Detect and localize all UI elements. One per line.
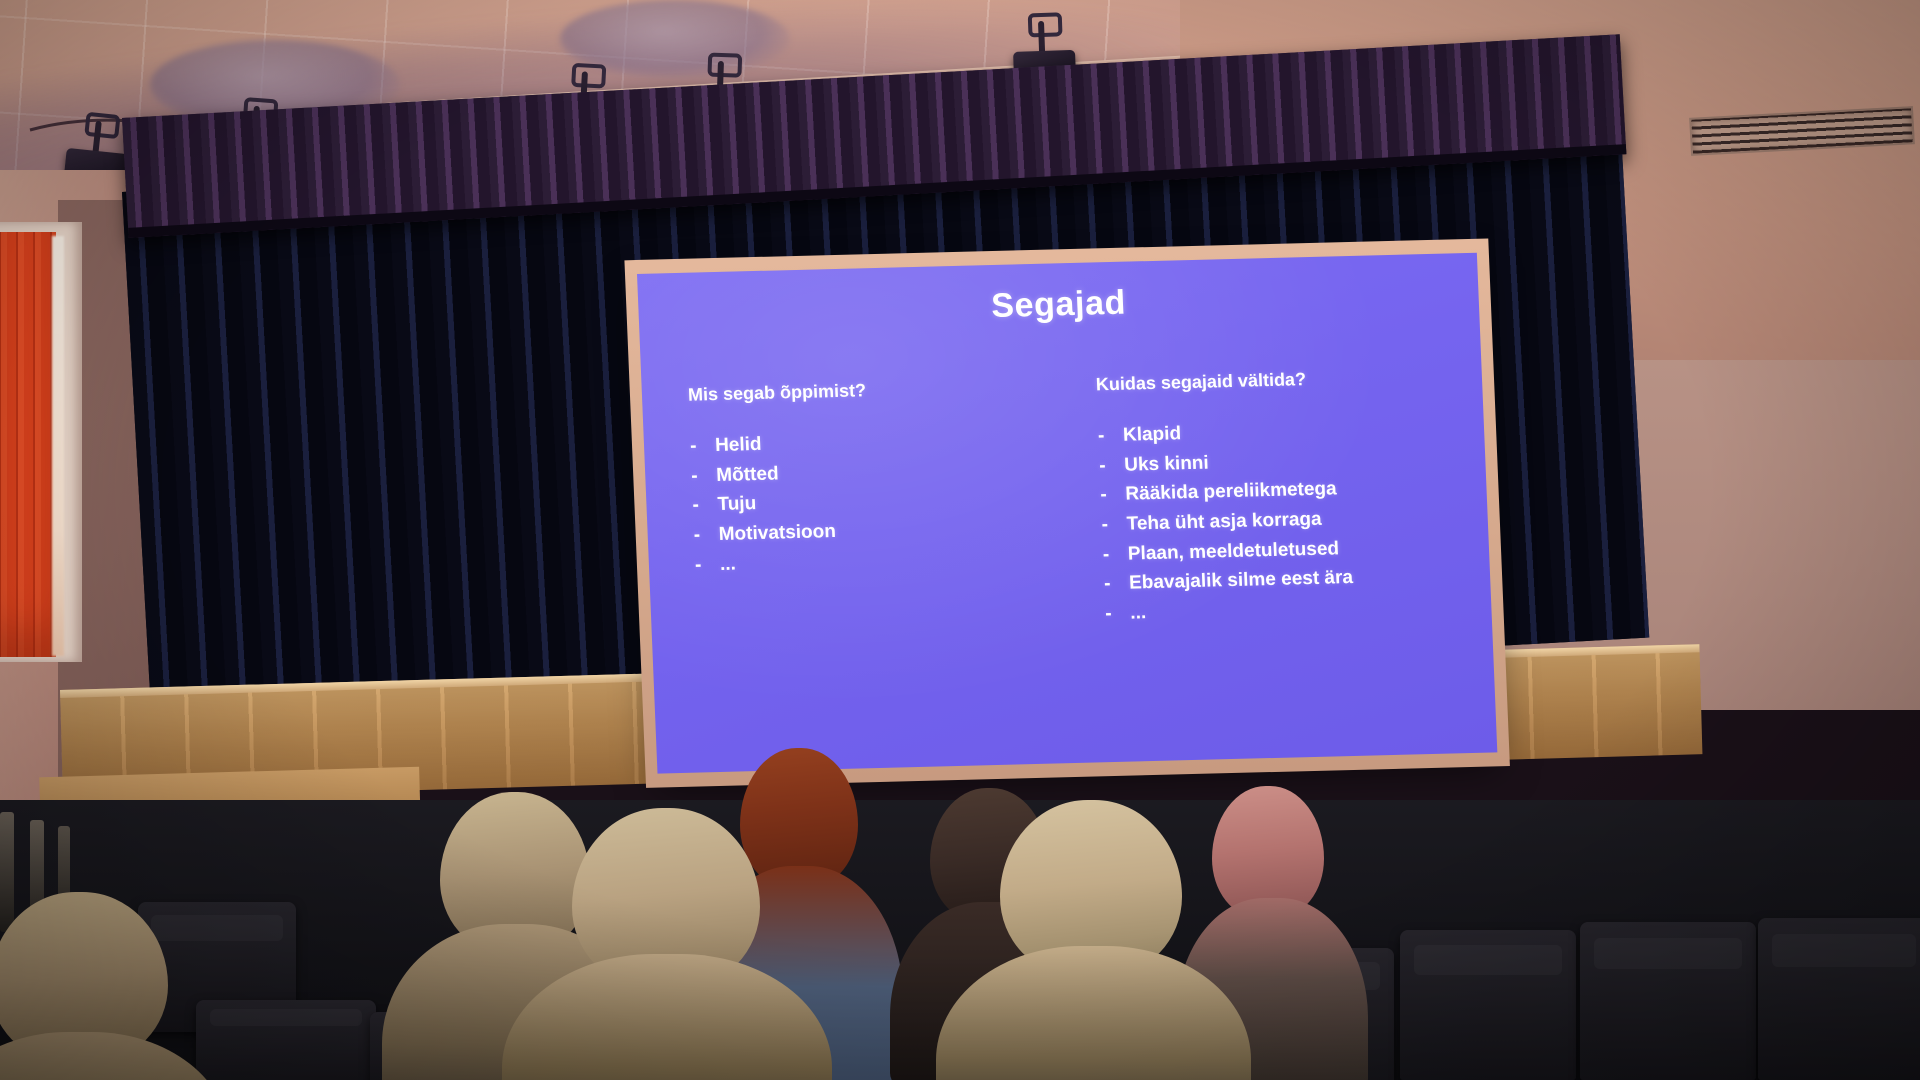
slide-column-left: Mis segab õppimist? - Helid - Mõtted - T — [688, 376, 1050, 639]
seat[interactable] — [1400, 930, 1576, 1080]
bullet-dash: - — [1099, 451, 1111, 481]
slide-columns: Mis segab õppimist? - Helid - Mõtted - T — [688, 366, 1458, 639]
bullet-dash: - — [1104, 569, 1116, 599]
bullet-dash: - — [692, 491, 704, 521]
slide-title: Segajad — [638, 275, 1479, 335]
bullet-text: ... — [719, 549, 736, 579]
bullet-list-left: - Helid - Mõtted - Tuju - — [690, 423, 1048, 580]
bullet-text: Uks kinni — [1124, 448, 1210, 480]
slide-column-right: Kuidas segajaid vältida? - Klapid - Uks … — [1096, 366, 1458, 629]
orange-window-blinds — [0, 232, 56, 657]
bullet-dash: - — [1102, 539, 1114, 569]
seat[interactable] — [1580, 922, 1756, 1080]
bullet-dash: - — [1101, 510, 1113, 540]
bullet-text: Mõtted — [716, 459, 779, 490]
column-heading-left: Mis segab õppimist? — [688, 376, 1041, 406]
bullet-dash: - — [1100, 480, 1112, 510]
bullet-text: Klapid — [1122, 419, 1181, 450]
mic-stand — [0, 812, 14, 932]
bullet-text: Ebavajalik silme eest ära — [1128, 563, 1353, 598]
bullet-text: Tuju — [717, 489, 757, 520]
projection-screen: Segajad Mis segab õppimist? - Helid - Mõ… — [637, 253, 1497, 774]
bullet-dash: - — [1105, 599, 1117, 629]
seat[interactable] — [1758, 918, 1920, 1080]
presentation-slide: Segajad Mis segab õppimist? - Helid - Mõ… — [637, 253, 1497, 774]
bullet-text: ... — [1130, 598, 1147, 628]
bullet-text: Motivatsioon — [718, 517, 836, 550]
bullet-dash: - — [691, 461, 703, 491]
bullet-dash: - — [694, 550, 706, 580]
bullet-dash: - — [1097, 421, 1109, 451]
seat[interactable] — [196, 1000, 376, 1080]
auditorium-photo: Segajad Mis segab õppimist? - Helid - Mõ… — [0, 0, 1920, 1080]
bullet-dash: - — [690, 431, 702, 461]
column-heading-right: Kuidas segajaid vältida? — [1096, 366, 1449, 396]
window-light-glow — [52, 236, 64, 656]
bullet-list-right: - Klapid - Uks kinni - Rääkida pereliikm… — [1097, 412, 1457, 628]
bullet-dash: - — [693, 520, 705, 550]
bullet-text: Helid — [715, 430, 763, 461]
